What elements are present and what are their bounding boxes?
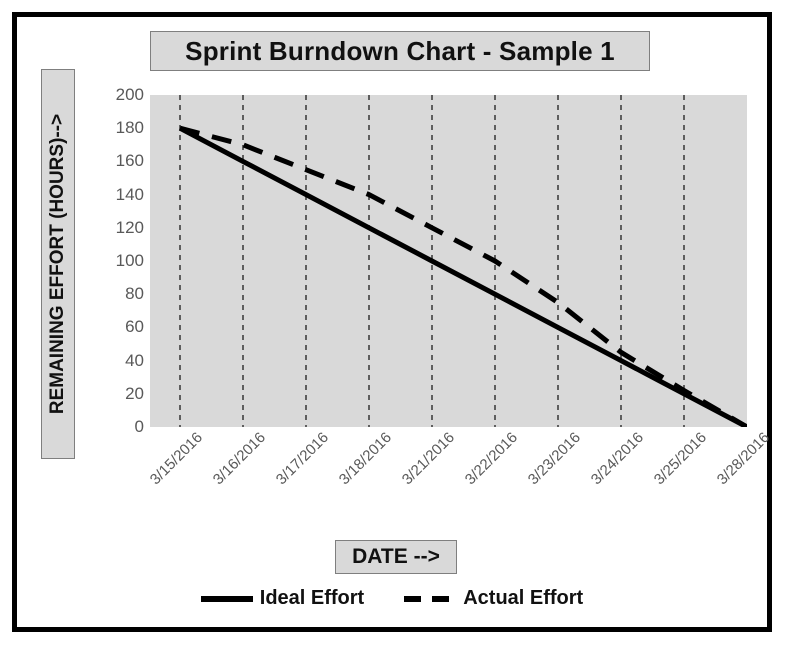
y-tick-label: 120 — [100, 218, 144, 238]
y-tick-label: 80 — [100, 284, 144, 304]
x-axis-tick-labels: 3/15/20163/16/20163/17/20163/18/20163/21… — [150, 429, 750, 529]
y-tick-label: 20 — [100, 384, 144, 404]
y-tick-label: 160 — [100, 151, 144, 171]
x-axis-title: DATE --> — [335, 540, 457, 574]
chart-legend: Ideal EffortActual Effort — [17, 587, 767, 610]
y-tick-label: 0 — [100, 417, 144, 437]
legend-label: Actual Effort — [463, 587, 583, 610]
y-axis-title: REMAINING EFFORT (HOURS)--> — [41, 69, 75, 459]
series-line-ideal-effort — [180, 128, 747, 427]
chart-frame: Sprint Burndown Chart - Sample 1 REMAINI… — [12, 12, 772, 632]
y-axis-tick-labels: 020406080100120140160180200 — [92, 95, 144, 427]
y-tick-label: 100 — [100, 251, 144, 271]
chart-title: Sprint Burndown Chart - Sample 1 — [150, 31, 650, 71]
y-tick-label: 60 — [100, 317, 144, 337]
x-tick-label: 3/28/2016 — [761, 382, 800, 441]
y-tick-label: 40 — [100, 351, 144, 371]
series-lines — [180, 128, 747, 427]
legend-label: Ideal Effort — [260, 587, 364, 610]
legend-swatch-solid-icon — [201, 596, 253, 602]
legend-swatch-dashed-icon — [404, 596, 456, 602]
y-axis-title-label: REMAINING EFFORT (HOURS)--> — [47, 114, 69, 414]
plot-svg — [150, 95, 747, 427]
legend-item[interactable]: Ideal Effort — [201, 587, 364, 610]
y-tick-label: 200 — [100, 85, 144, 105]
plot-area — [150, 95, 747, 427]
y-tick-label: 180 — [100, 118, 144, 138]
y-tick-label: 140 — [100, 185, 144, 205]
legend-item[interactable]: Actual Effort — [404, 587, 583, 610]
